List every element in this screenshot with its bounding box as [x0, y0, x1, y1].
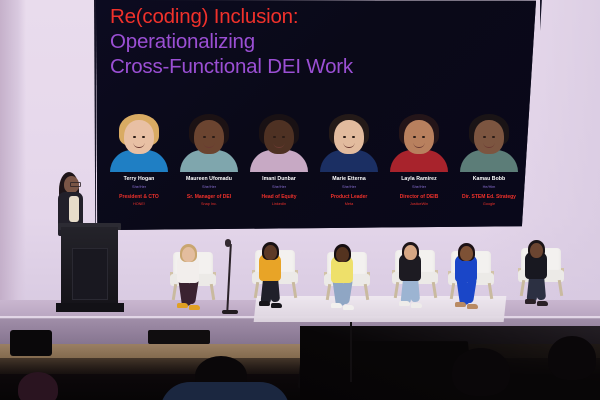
panelist-head [264, 245, 277, 260]
speaker-name: Kamau Bobb [458, 176, 520, 183]
headshot-eye-left [203, 136, 206, 138]
speaker-name: Marie Etterna [318, 176, 380, 183]
speaker-pronouns: She/Her [108, 184, 170, 190]
speaker-company: Meta [318, 202, 380, 207]
speaker-name-block: Imani DunbarShe/HerHead of EquityLinkedI… [248, 176, 310, 226]
speaker-name: Terry Hogan [108, 176, 170, 183]
speaker-company: JusticeWin [388, 202, 450, 207]
headshot-eye-left [273, 136, 276, 138]
audience-head-2 [452, 348, 510, 396]
headshot-face [334, 120, 364, 154]
panelist-head [460, 246, 473, 261]
speaker-name-block: Marie EtternaShe/HerProduct LeaderMeta [318, 176, 380, 226]
panelist-head [530, 243, 543, 258]
moderator-glasses [70, 182, 81, 187]
slide-title: Re(coding) Inclusion: Operationalizing C… [110, 4, 510, 79]
headshot-smile [344, 143, 355, 148]
foreground-mic-stand [350, 322, 352, 382]
speaker-name-block: Kamau BobbHe/HimDir. STEM Ed. StrategyGo… [458, 176, 520, 226]
speaker-role: Head of Equity [248, 194, 310, 201]
speaker-names-row: Terry HoganShe/HerPresident & CTOHONE!Ma… [108, 176, 524, 226]
slide-title-line-1: Re(coding) Inclusion: [110, 4, 510, 29]
panelist-head [182, 247, 195, 262]
headshot-face [194, 120, 224, 154]
podium-front-panel [72, 248, 108, 300]
speaker-role: Dir. STEM Ed. Strategy [458, 194, 520, 201]
headshot-face [404, 120, 434, 154]
wall-left-shading [0, 0, 26, 346]
speaker-headshot [458, 112, 520, 172]
headshot-face [264, 120, 294, 154]
audience-head-3 [548, 336, 596, 380]
speaker-headshot [388, 112, 450, 172]
speaker-company: Google [458, 202, 520, 207]
speaker-company: Snap Inc. [178, 202, 240, 207]
panelist-shoe-1 [331, 303, 342, 308]
panelist-shoe-2 [343, 305, 354, 310]
presentation-screen: Re(coding) Inclusion: Operationalizing C… [96, 0, 536, 232]
panelist-shoe-1 [259, 301, 270, 306]
speaker-name-block: Layla RamirezShe/HerDirector of DEIBJust… [388, 176, 450, 226]
headshot-face [474, 120, 504, 154]
speaker-role: President & CTO [108, 194, 170, 201]
speaker-role: Sr. Manager of DEI [178, 194, 240, 201]
headshot-smile [414, 143, 425, 148]
conference-photo: Re(coding) Inclusion: Operationalizing C… [0, 0, 600, 400]
panelist-head [336, 247, 349, 262]
speaker-name: Layla Ramirez [388, 176, 450, 183]
panelist-shoe-2 [271, 303, 282, 308]
microphone-head [225, 239, 231, 247]
headshot-eye-left [133, 136, 136, 138]
speaker-role: Product Leader [318, 194, 380, 201]
panelist-shoe-1 [177, 303, 188, 308]
audience-head-4 [18, 372, 58, 400]
stage-monitor-left [148, 330, 210, 344]
headshot-eye-right [492, 136, 495, 138]
headshot-eye-right [352, 136, 355, 138]
podium-base [56, 303, 124, 312]
speaker-pronouns: She/Her [318, 184, 380, 190]
speaker-headshot [318, 112, 380, 172]
headshot-eye-right [422, 136, 425, 138]
moderator-shirt [69, 196, 79, 222]
speaker-headshot [108, 112, 170, 172]
speaker-pronouns: She/Her [388, 184, 450, 190]
panelist-shoe-2 [467, 304, 478, 309]
panelist-shoe-2 [537, 301, 548, 306]
speaker-company: HONE! [108, 202, 170, 207]
speaker-role: Director of DEIB [388, 194, 450, 201]
speaker-name-block: Terry HoganShe/HerPresident & CTOHONE! [108, 176, 170, 226]
panelist-head [404, 245, 417, 260]
panelist-shoe-1 [525, 299, 536, 304]
panelist-shoe-2 [189, 305, 200, 310]
speaker-name: Maureen Ufomadu [178, 176, 240, 183]
microphone-base [222, 310, 238, 314]
panelist-shoe-2 [411, 303, 422, 308]
headshot-smile [274, 143, 285, 148]
headshot-eye-right [282, 136, 285, 138]
speaker-name: Imani Dunbar [248, 176, 310, 183]
speaker-pronouns: She/Her [248, 184, 310, 190]
camera-silhouette [10, 330, 52, 356]
headshot-smile [204, 143, 215, 148]
headshot-eye-right [212, 136, 215, 138]
headshot-smile [134, 143, 145, 148]
headshot-eye-left [483, 136, 486, 138]
speaker-pronouns: She/Her [178, 184, 240, 190]
panelist-shoe-1 [455, 302, 466, 307]
speaker-pronouns: He/Him [458, 184, 520, 190]
headshot-eye-right [142, 136, 145, 138]
speaker-headshot [178, 112, 240, 172]
panelist-shoe-1 [399, 301, 410, 306]
screen-content: Re(coding) Inclusion: Operationalizing C… [96, 0, 536, 232]
speaker-company: LinkedIn [248, 202, 310, 207]
slide-title-line-2: Operationalizing [110, 29, 510, 54]
headshot-face [124, 120, 154, 154]
speaker-headshot [248, 112, 310, 172]
slide-title-line-3: Cross-Functional DEI Work [110, 54, 510, 79]
audience-shoulders-1 [160, 382, 290, 400]
headshot-smile [484, 143, 495, 148]
speaker-name-block: Maureen UfomaduShe/HerSr. Manager of DEI… [178, 176, 240, 226]
headshot-eye-left [343, 136, 346, 138]
speaker-headshot-row [108, 112, 524, 172]
headshot-eye-left [413, 136, 416, 138]
